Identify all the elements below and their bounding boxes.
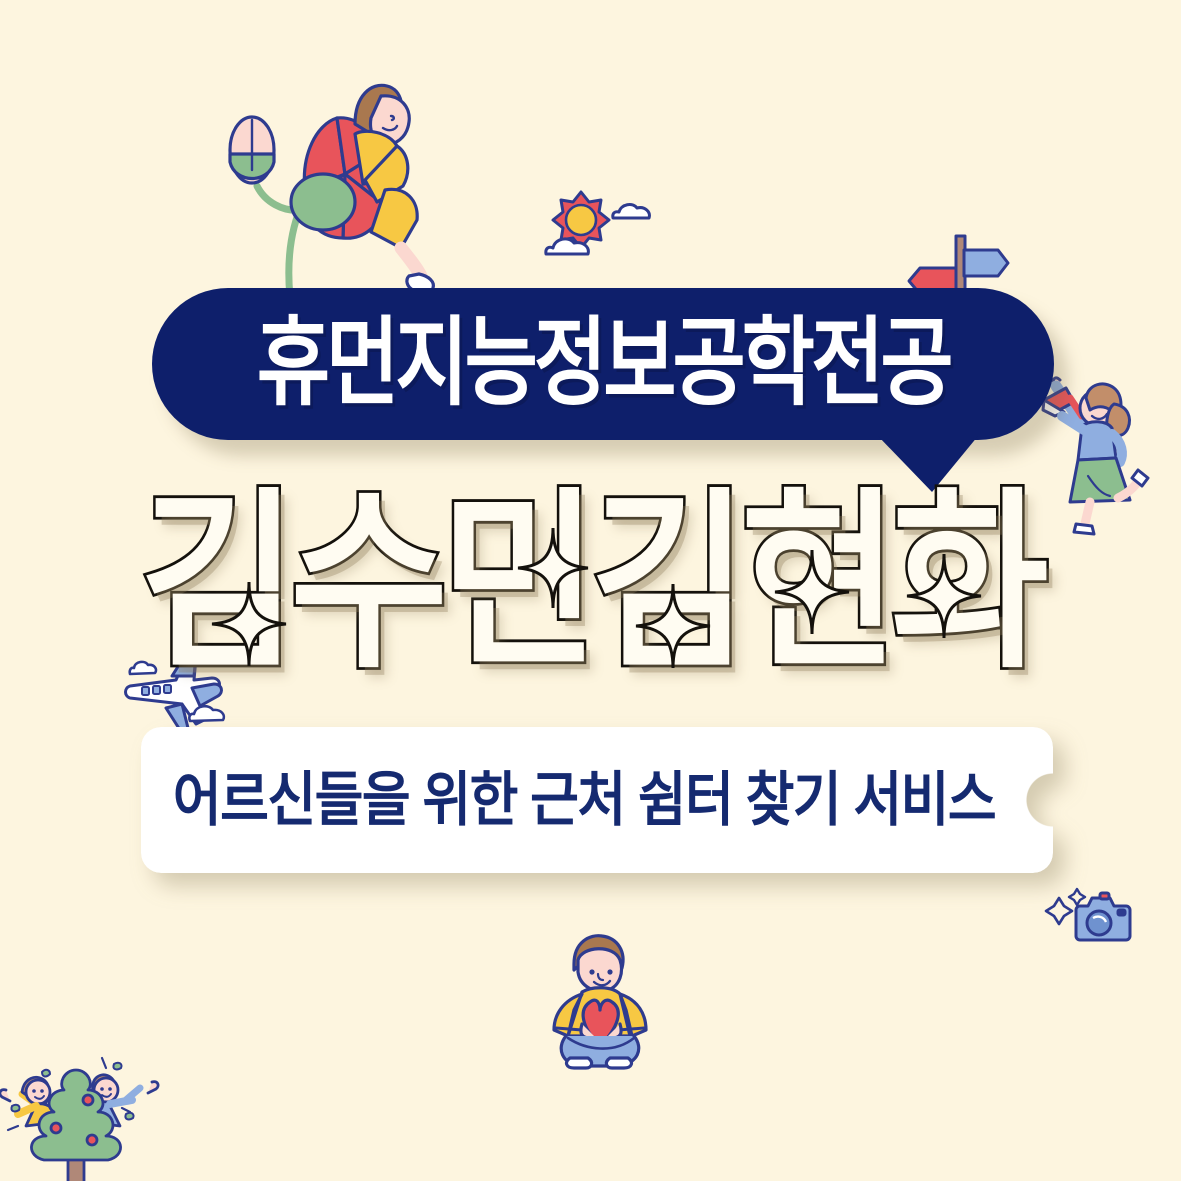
service-subtitle-text: 어르신들을 위한 근처 쉼터 찾기 서비스	[173, 770, 1021, 829]
department-name: 휴먼지능정보공학전공	[257, 316, 950, 413]
sun-cloud-icon	[543, 186, 653, 258]
flower-girl-illustration	[205, 62, 435, 322]
service-subtitle-card: 어르신들을 위한 근처 쉼터 찾기 서비스	[141, 727, 1053, 873]
authors-name-text: 김수민김현화	[140, 487, 1041, 680]
camera-icon	[1038, 884, 1136, 956]
authors-title: 김수민김현화	[0, 488, 1181, 678]
kids-and-tree-illustration	[0, 1052, 164, 1181]
person-holding-heart-illustration	[522, 930, 674, 1072]
department-banner: 휴먼지능정보공학전공	[152, 288, 1054, 440]
poster-canvas: 휴먼지능정보공학전공 김수민김현화 어르신들을 위한 근처 쉼터 찾기 서비스	[0, 0, 1181, 1181]
